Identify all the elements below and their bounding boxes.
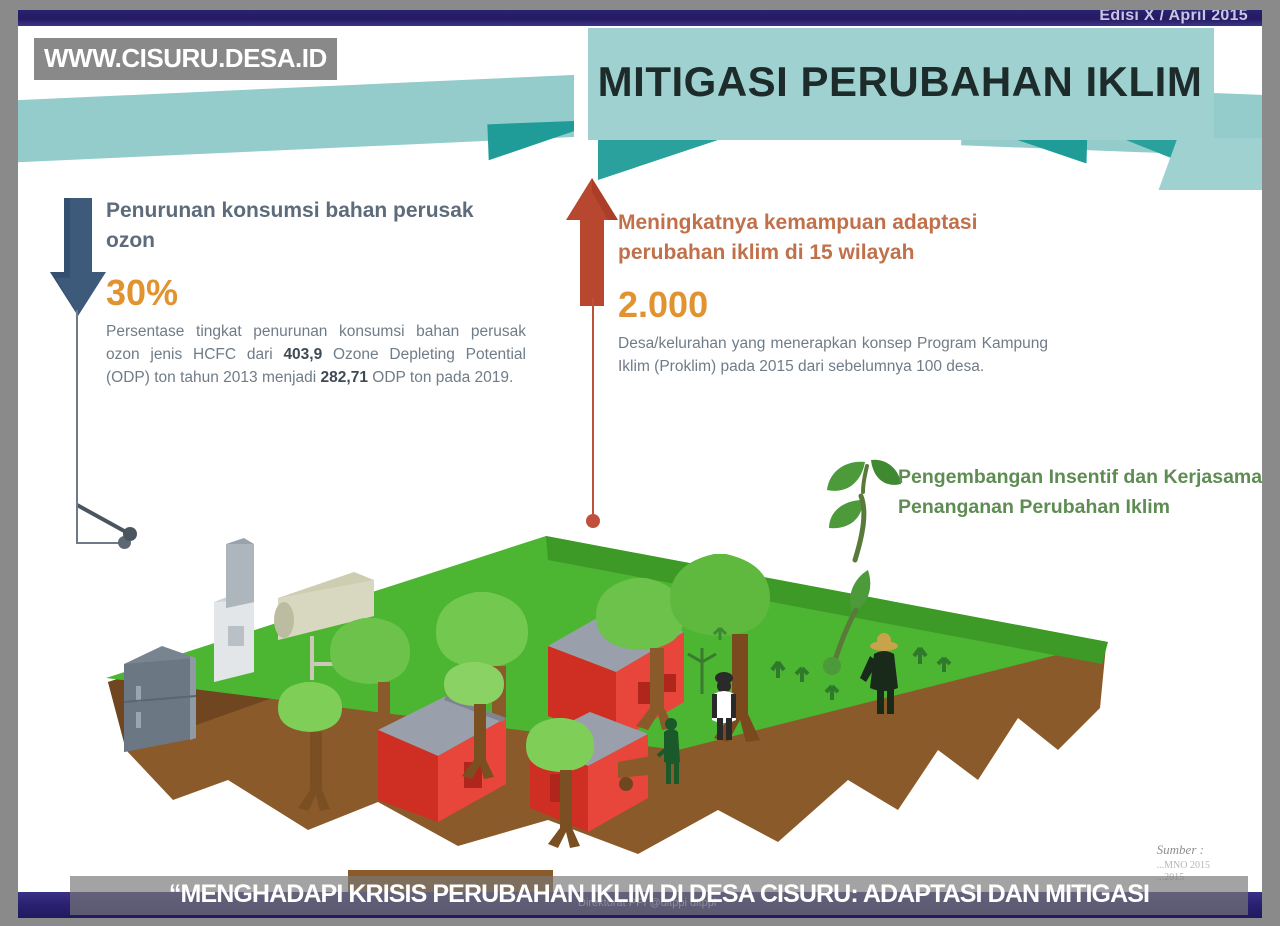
floating-island-village-illustration [78,450,1138,870]
down-arrow-icon [50,198,106,316]
antenna-icon [78,500,137,541]
source-line-1: ...MNO 2015 [1157,860,1210,872]
ozone-body-bold-2: 282,71 [321,369,368,386]
stat-ozone-heading: Penurunan konsumsi bahan perusak ozon [106,196,526,256]
stat-block-ozone: Penurunan konsumsi bahan perusak ozon 30… [106,196,526,389]
screenshot-root: Edisi X / April 2015 MITIGASI PERUBAHAN … [0,0,1280,926]
stat-adaptation-heading: Meningkatnya kemampuan adaptasi perubaha… [618,208,1048,268]
refrigerator-icon [124,646,196,752]
stat-ozone-body: Persentase tingkat penurunan konsumsi ba… [106,320,526,389]
up-arrow-icon [566,178,618,306]
top-navy-bar: Edisi X / April 2015 [18,10,1262,26]
edition-label: Edisi X / April 2015 [1099,10,1248,25]
stat-adaptation-body: Desa/kelurahan yang menerapkan konsep Pr… [618,332,1048,378]
source-label: Sumber : [1157,842,1204,857]
stat-block-adaptation: Meningkatnya kemampuan adaptasi perubaha… [618,208,1048,378]
page-title: MITIGASI PERUBAHAN IKLIM [590,58,1210,106]
site-watermark: WWW.CISURU.DESA.ID [34,38,337,80]
title-notch-left-icon [598,140,718,180]
infographic-sheet: Edisi X / April 2015 MITIGASI PERUBAHAN … [18,10,1262,918]
caption-banner: “MENGHADAPI KRISIS PERUBAHAN IKLIM DI DE… [70,876,1248,915]
ozone-body-bold-1: 403,9 [283,346,322,363]
water-heater-icon [214,538,254,682]
title-notch-corner-icon [1159,138,1262,190]
ozone-body-post: ODP ton pada 2019. [368,369,513,386]
stat-adaptation-value: 2.000 [618,284,1048,326]
stat-ozone-value: 30% [106,272,526,314]
